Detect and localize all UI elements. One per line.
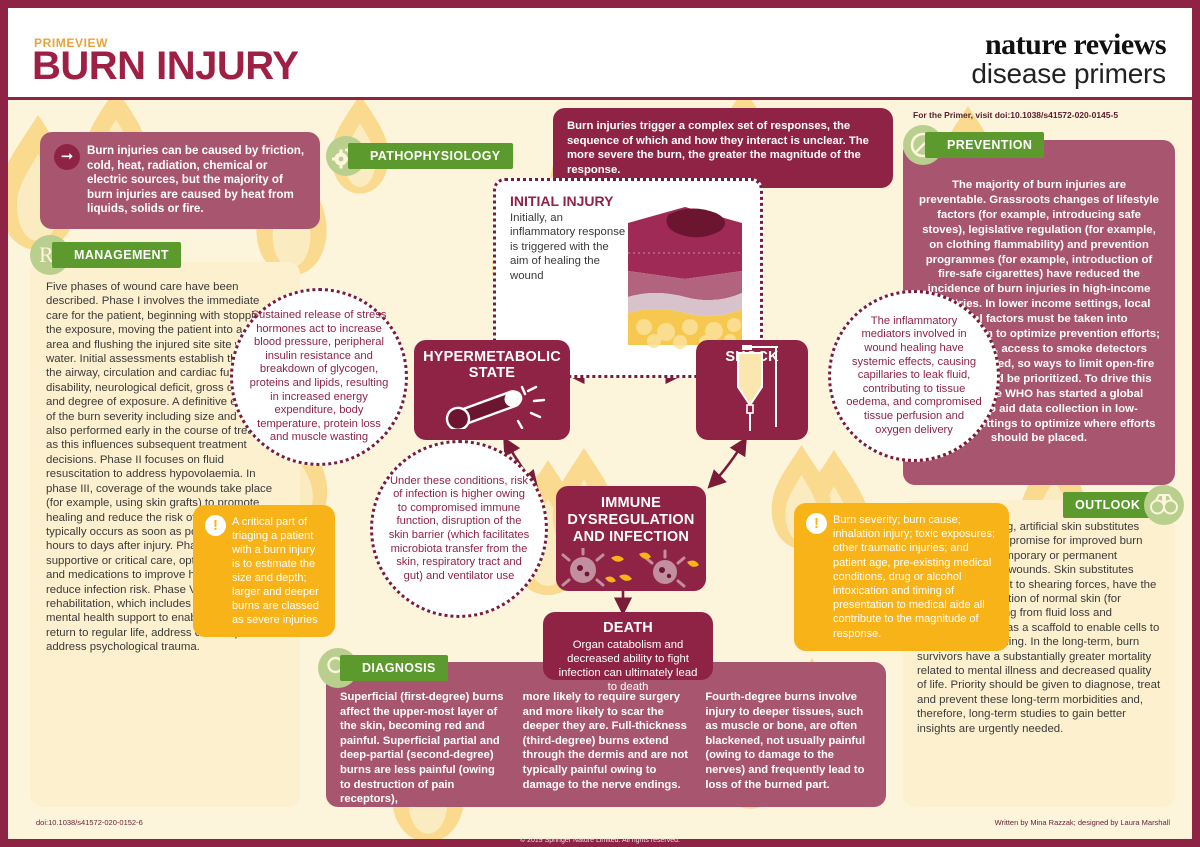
infographic-page: PRIMEVIEW BURN INJURY nature reviews dis…	[0, 0, 1200, 847]
logo-line-2: disease primers	[971, 58, 1166, 90]
initial-injury-text: Initially, an inflammatory response is t…	[510, 211, 630, 283]
section-management-label: MANAGEMENT	[52, 242, 181, 268]
management-alert-text: A critical part of triaging a patient wi…	[232, 515, 323, 627]
section-prevention-badge[interactable]: PREVENTION	[903, 125, 1044, 165]
death-text: Organ catabolism and decreased ability t…	[553, 638, 703, 694]
bubble-inflammatory-mediators: The inflammatory mediators involved in w…	[828, 290, 1000, 462]
page-header: PRIMEVIEW BURN INJURY nature reviews dis…	[8, 8, 1192, 100]
page-title: BURN INJURY	[32, 44, 298, 89]
flowbox-death: DEATH Organ catabolism and decreased abi…	[543, 612, 713, 680]
flowbox-hypermetabolic: HYPERMETABOLIC STATE	[414, 340, 570, 440]
severity-alert-text: Burn severity; burn cause; inhalation in…	[833, 513, 997, 641]
hypermetabolic-title: HYPERMETABOLIC STATE	[414, 349, 570, 381]
section-management-badge[interactable]: R x MANAGEMENT	[30, 235, 181, 275]
flowbox-shock: SHOCK	[696, 340, 808, 440]
severity-alert-panel: ! Burn severity; burn cause; inhalation …	[794, 503, 1009, 651]
management-alert-panel: ! A critical part of triaging a patient …	[193, 505, 335, 637]
iv-drip-icon	[732, 343, 802, 435]
binoculars-icon	[1144, 485, 1184, 525]
section-pathophysiology-badge[interactable]: PATHOPHYSIOLOGY	[326, 136, 513, 176]
bubble-infection-risk-text: Under these conditions, risk of infectio…	[373, 475, 545, 584]
initial-injury-title: INITIAL INJURY	[510, 193, 630, 209]
section-diagnosis-label: DIAGNOSIS	[340, 655, 448, 681]
bubble-stress-hormones-text: Sustained release of stress hormones act…	[233, 309, 405, 445]
section-pathophysiology-label: PATHOPHYSIOLOGY	[348, 143, 513, 169]
skin-burn-cross-section-image	[620, 201, 750, 351]
infographic-canvas: For the Primer, visit doi:10.1038/s41572…	[8, 100, 1192, 839]
exclamation-icon: !	[806, 513, 827, 534]
exclamation-icon: !	[205, 515, 226, 536]
logo-line-1: nature reviews	[971, 28, 1166, 62]
bubble-stress-hormones: Sustained release of stress hormones act…	[230, 288, 408, 466]
bubble-infection-risk: Under these conditions, risk of infectio…	[370, 440, 548, 618]
flowbox-immune: IMMUNE DYSREGULATION AND INFECTION	[556, 486, 706, 591]
section-prevention-label: PREVENTION	[925, 132, 1044, 158]
section-outlook-badge[interactable]: OUTLOOK	[1063, 485, 1184, 525]
journal-logo: nature reviews disease primers	[971, 28, 1166, 90]
bacteria-macrophage-icon	[561, 548, 701, 590]
thermometer-icon	[432, 385, 552, 429]
section-diagnosis-badge[interactable]: DIAGNOSIS	[318, 648, 448, 688]
death-title: DEATH	[553, 620, 703, 636]
bubble-inflammatory-mediators-text: The inflammatory mediators involved in w…	[831, 315, 997, 437]
immune-title: IMMUNE DYSREGULATION AND INFECTION	[556, 495, 706, 546]
